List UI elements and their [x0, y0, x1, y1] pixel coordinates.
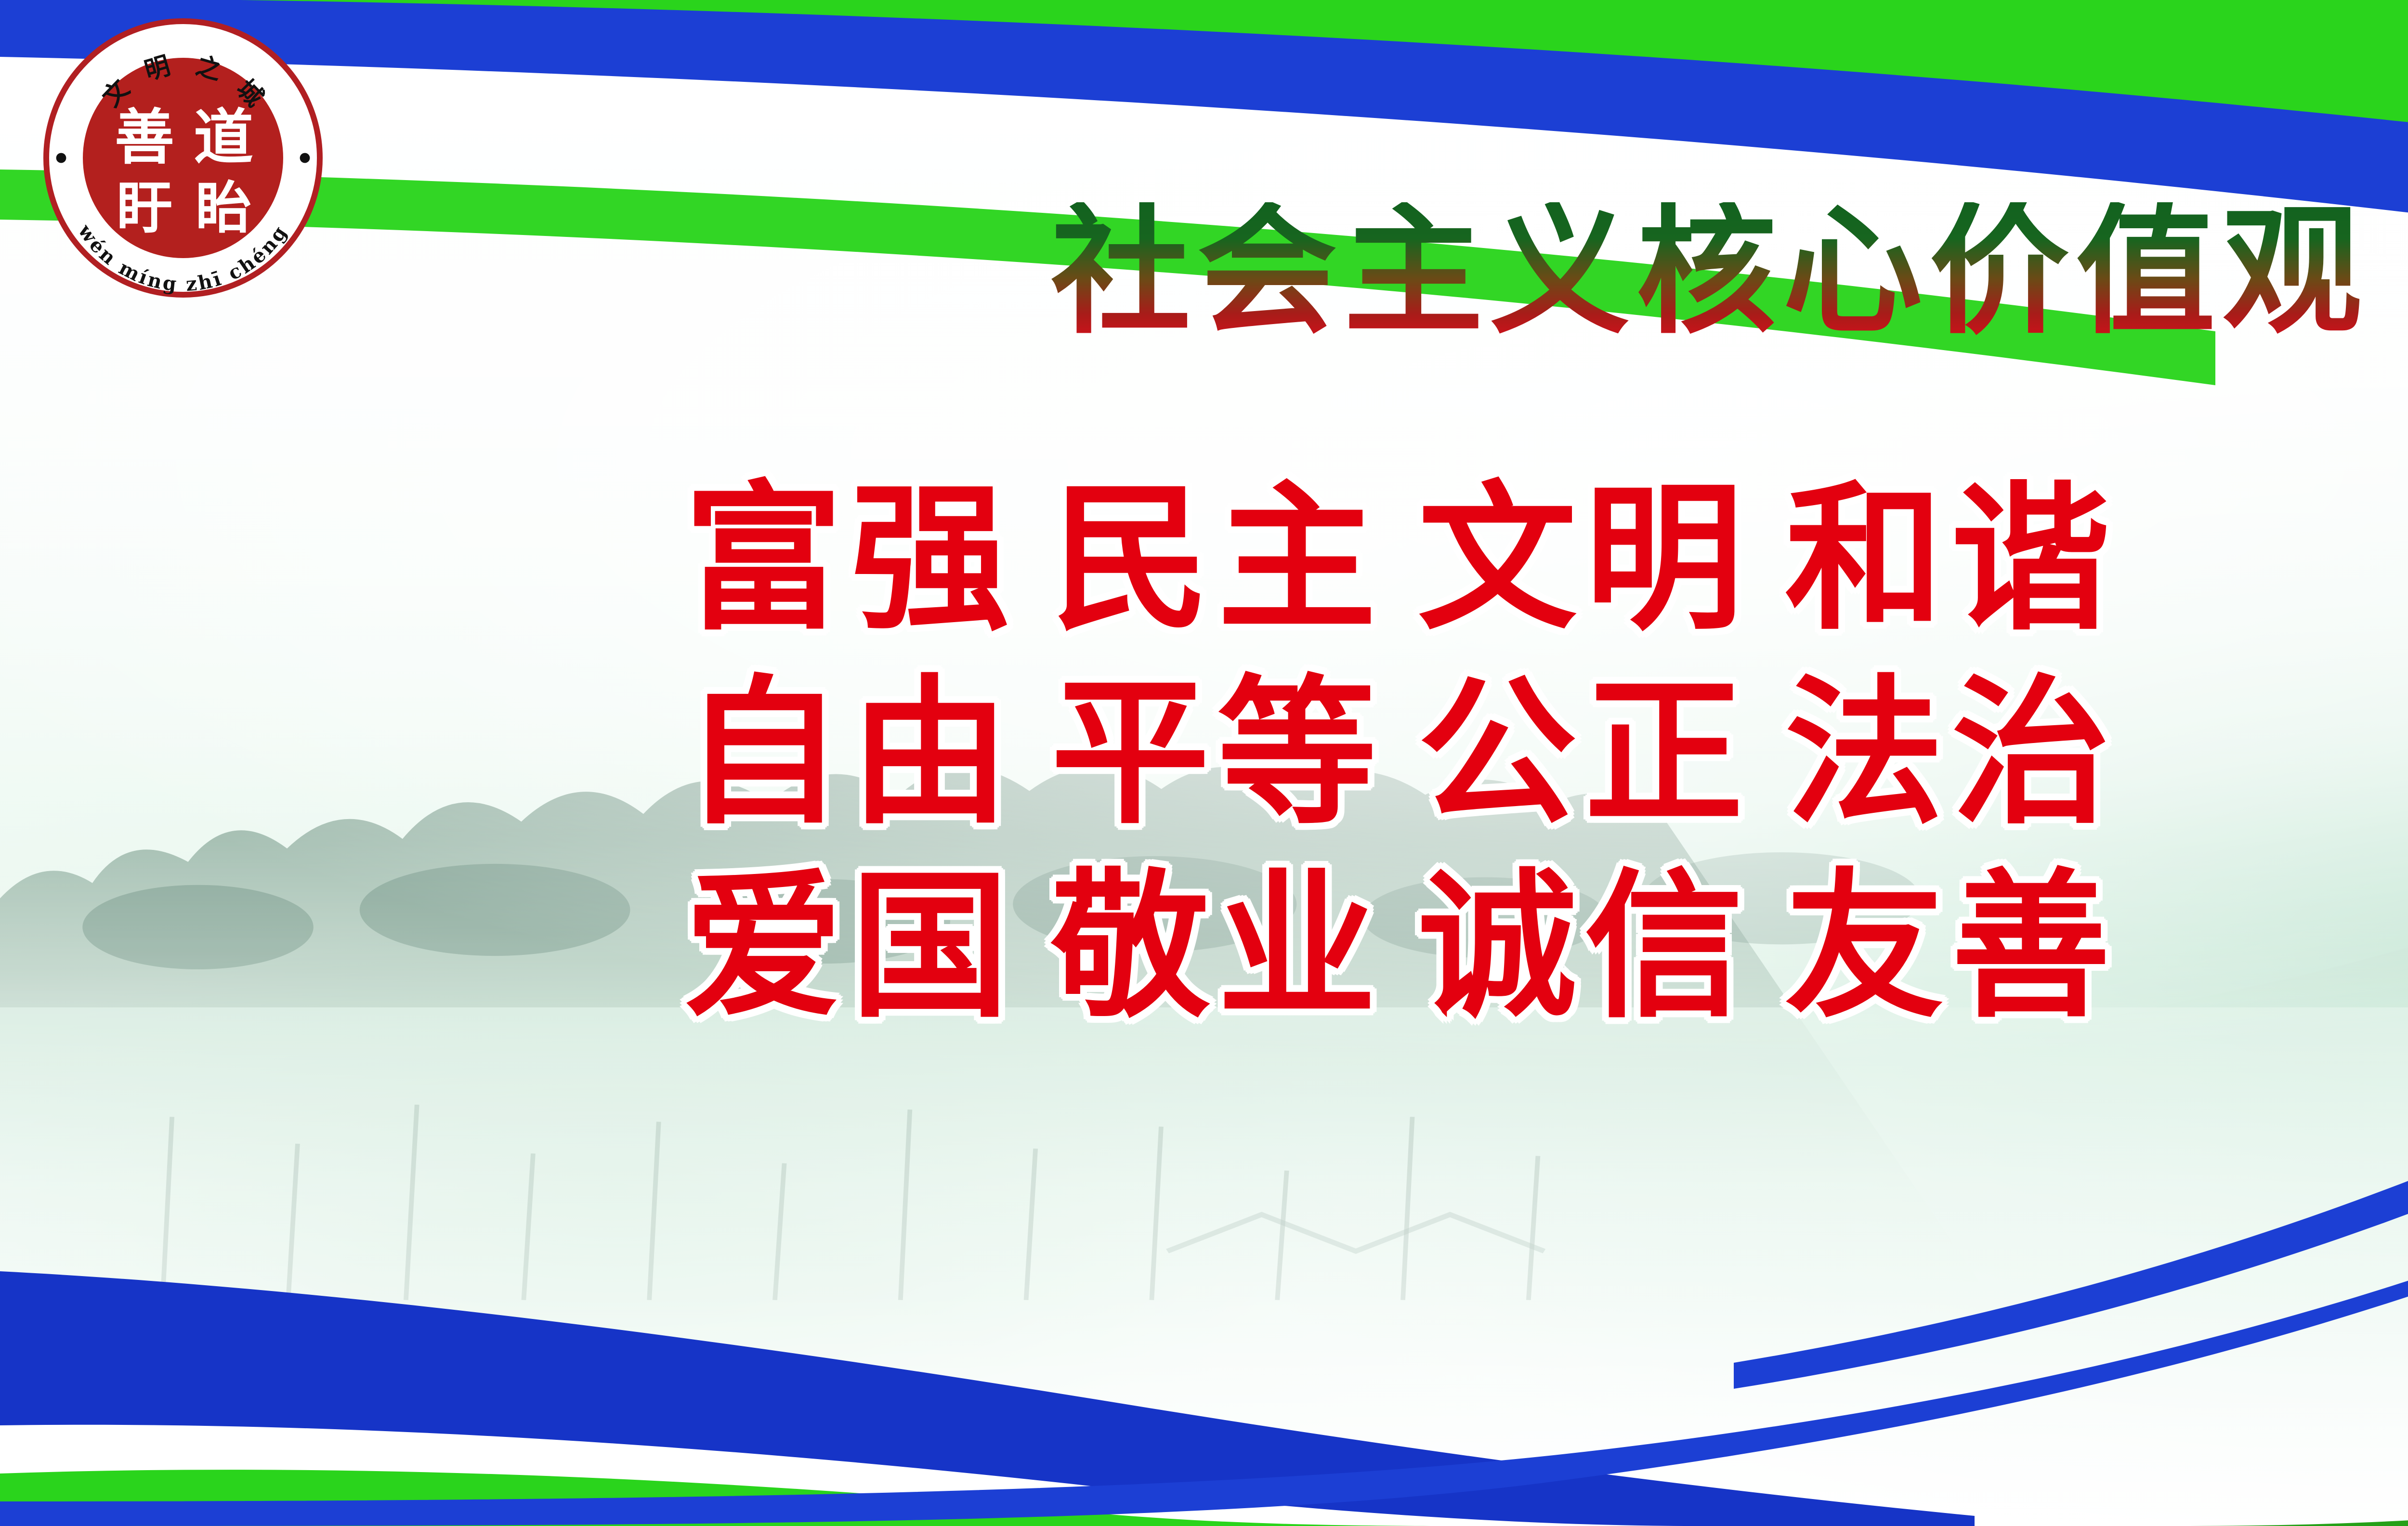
value-word: 平等 — [1051, 661, 1384, 846]
value-word: 友善 — [1785, 854, 2118, 1039]
seal-dot-left — [56, 153, 66, 163]
page-title: 社会主义核心价值观 — [843, 202, 2408, 342]
value-word: 诚信 — [1418, 854, 1751, 1039]
value-word: 和谐 — [1785, 467, 2118, 652]
value-line-2: 自由平等公正法治 — [684, 656, 2408, 850]
seal-center-char-dao: 道 — [194, 103, 253, 172]
seal-center-char-shan: 善 — [115, 103, 174, 172]
emblem-seal[interactable]: 文 明 之 城 善 道 盱 眙 wén míng zhī chéng — [39, 13, 327, 302]
value-line-3: 爱国敬业诚信友善 — [684, 850, 2408, 1044]
poster-canvas: 文 明 之 城 善 道 盱 眙 wén míng zhī chéng 社会主义核… — [0, 0, 2408, 1526]
value-line-1: 富强民主文明和谐 — [684, 462, 2408, 656]
value-word: 爱国 — [684, 854, 1017, 1039]
seal-center-char-yi: 眙 — [196, 176, 251, 241]
value-word: 法治 — [1785, 661, 2118, 846]
value-word: 公正 — [1418, 661, 1751, 846]
value-word: 民主 — [1051, 467, 1384, 652]
seal-center-char-xu: 盱 — [117, 176, 172, 241]
core-values-block: 富强民主文明和谐 自由平等公正法治 爱国敬业诚信友善 — [684, 462, 2408, 1044]
value-word: 文明 — [1418, 467, 1751, 652]
value-word: 富强 — [684, 467, 1017, 652]
value-word: 自由 — [684, 661, 1017, 846]
value-word: 敬业 — [1051, 854, 1384, 1039]
seal-dot-right — [300, 153, 310, 163]
